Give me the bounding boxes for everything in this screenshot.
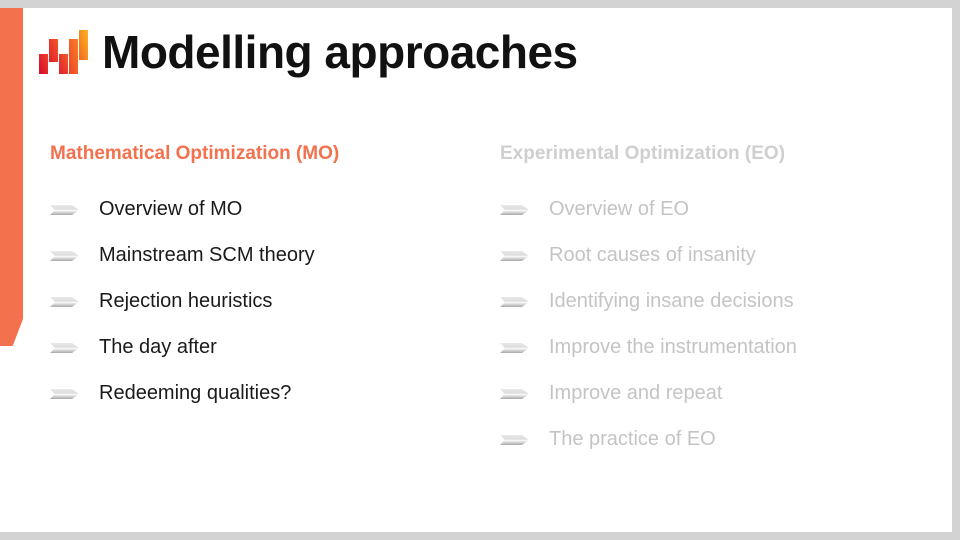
- list-item-label: Identifying insane decisions: [549, 291, 794, 311]
- chevron-banner-bullet-icon: [50, 387, 79, 399]
- list-item[interactable]: The day after: [50, 324, 480, 370]
- chevron-banner-bullet-icon: [500, 249, 529, 261]
- list-item-label: Mainstream SCM theory: [99, 245, 315, 265]
- left-accent-bar: [0, 8, 23, 346]
- list-item[interactable]: Overview of MO: [50, 186, 480, 232]
- list-item-label: Improve the instrumentation: [549, 337, 797, 357]
- list-item-label: Redeeming qualities?: [99, 383, 291, 403]
- chevron-banner-bullet-icon: [50, 249, 79, 261]
- bullet-list-mo: Overview of MO Mainstream SCM theory Rej…: [50, 186, 480, 416]
- list-item[interactable]: Redeeming qualities?: [50, 370, 480, 416]
- chevron-banner-bullet-icon: [50, 295, 79, 307]
- chevron-banner-bullet-icon: [500, 295, 529, 307]
- list-item-label: Root causes of insanity: [549, 245, 756, 265]
- list-item[interactable]: Overview of EO: [500, 186, 930, 232]
- list-item[interactable]: Identifying insane decisions: [500, 278, 930, 324]
- column-experimental-optimization: Experimental Optimization (EO) Overview …: [500, 143, 930, 462]
- list-item-label: Rejection heuristics: [99, 291, 272, 311]
- column-header-eo: Experimental Optimization (EO): [500, 143, 930, 165]
- column-header-mo: Mathematical Optimization (MO): [50, 143, 480, 165]
- list-item[interactable]: Mainstream SCM theory: [50, 232, 480, 278]
- list-item[interactable]: Improve and repeat: [500, 370, 930, 416]
- chevron-banner-bullet-icon: [500, 341, 529, 353]
- list-item-label: The day after: [99, 337, 217, 357]
- chevron-banner-bullet-icon: [500, 203, 529, 215]
- column-mathematical-optimization: Mathematical Optimization (MO): [50, 143, 480, 416]
- list-item[interactable]: Rejection heuristics: [50, 278, 480, 324]
- chevron-banner-bullet-icon: [500, 387, 529, 399]
- list-item[interactable]: Root causes of insanity: [500, 232, 930, 278]
- bar-chart-logo-icon: [38, 28, 90, 80]
- bullet-list-eo: Overview of EO Root causes of insanity I…: [500, 186, 930, 462]
- slide-root: Modelling approaches Mathematical Optimi…: [0, 0, 960, 540]
- page-title: Modelling approaches: [102, 25, 578, 79]
- chevron-banner-bullet-icon: [50, 203, 79, 215]
- list-item[interactable]: The practice of EO: [500, 416, 930, 462]
- chevron-banner-bullet-icon: [500, 433, 529, 445]
- list-item-label: Improve and repeat: [549, 383, 722, 403]
- list-item-label: Overview of EO: [549, 199, 689, 219]
- chevron-banner-bullet-icon: [50, 341, 79, 353]
- list-item[interactable]: Improve the instrumentation: [500, 324, 930, 370]
- list-item-label: Overview of MO: [99, 199, 242, 219]
- list-item-label: The practice of EO: [549, 429, 716, 449]
